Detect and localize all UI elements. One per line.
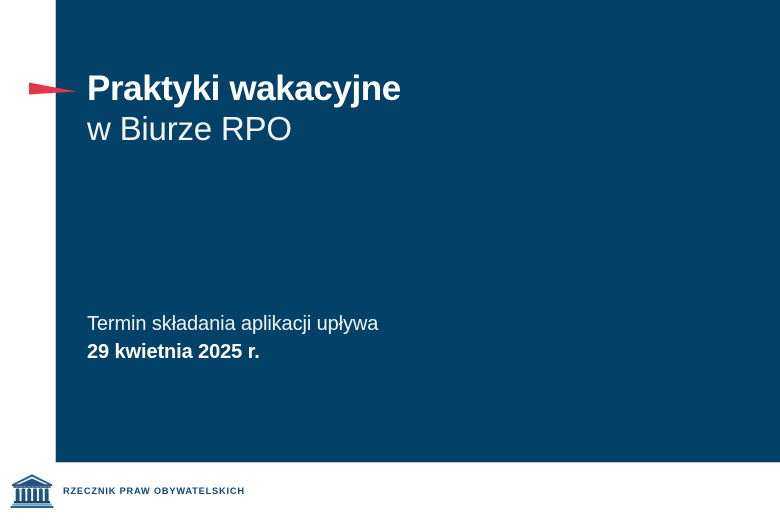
headline-block: Praktyki wakacyjne w Biurze RPO xyxy=(87,68,401,149)
brand-footer: RZECZNIK PRAW OBYWATELSKICH xyxy=(10,473,250,509)
red-wedge-accent-icon xyxy=(29,80,77,98)
rpo-temple-logo-icon xyxy=(10,473,54,509)
deadline-lead-text: Termin składania aplikacji upływa xyxy=(87,311,378,339)
brand-wordmark: RZECZNIK PRAW OBYWATELSKICH xyxy=(63,486,245,497)
headline-secondary: w Biurze RPO xyxy=(87,109,401,149)
poster-canvas: Praktyki wakacyjne w Biurze RPO Termin s… xyxy=(0,0,780,520)
deadline-block: Termin składania aplikacji upływa 29 kwi… xyxy=(87,311,378,366)
deadline-date-text: 29 kwietnia 2025 r. xyxy=(87,339,378,367)
headline-primary: Praktyki wakacyjne xyxy=(87,68,401,109)
